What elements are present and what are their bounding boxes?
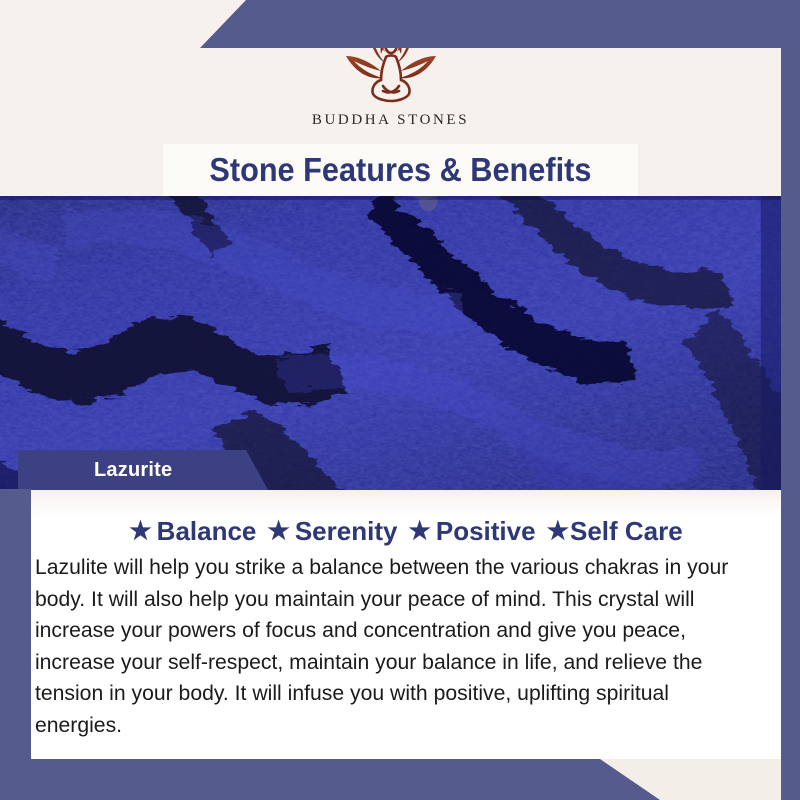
page-title: Stone Features & Benefits bbox=[163, 144, 638, 196]
feature-item-self-care: ★ Self Care bbox=[547, 516, 683, 547]
stone-name-badge: Lazurite bbox=[18, 450, 268, 490]
stone-info-card: BUDDHA STONES Stone Features & Benefits bbox=[0, 0, 800, 800]
star-icon: ★ bbox=[129, 519, 151, 544]
feature-label: Serenity bbox=[295, 516, 398, 547]
stone-name-label: Lazurite bbox=[94, 459, 172, 482]
frame-accent-left bbox=[0, 489, 31, 800]
page-title-text: Stone Features & Benefits bbox=[209, 151, 591, 189]
stone-texture bbox=[0, 196, 781, 490]
stone-description: Lazulite will help you strike a balance … bbox=[31, 552, 770, 741]
feature-label: Self Care bbox=[570, 516, 683, 547]
star-icon: ★ bbox=[267, 519, 289, 544]
frame-accent-top bbox=[200, 0, 800, 48]
feature-label: Balance bbox=[157, 516, 257, 547]
feature-item-serenity: ★ Serenity bbox=[267, 516, 397, 547]
frame-accent-right bbox=[781, 0, 800, 800]
feature-item-positive: ★ Positive bbox=[408, 516, 535, 547]
feature-list: ★ Balance ★ Serenity ★ Positive ★ Self C… bbox=[31, 490, 781, 547]
feature-item-balance: ★ Balance bbox=[129, 516, 256, 547]
frame-accent-bottom bbox=[0, 759, 660, 800]
star-icon: ★ bbox=[408, 519, 430, 544]
lazurite-stone-photo bbox=[0, 196, 781, 490]
star-icon: ★ bbox=[547, 519, 569, 544]
feature-label: Positive bbox=[436, 516, 536, 547]
brand-name: BUDDHA STONES bbox=[312, 112, 469, 129]
content-panel: ★ Balance ★ Serenity ★ Positive ★ Self C… bbox=[31, 490, 781, 759]
